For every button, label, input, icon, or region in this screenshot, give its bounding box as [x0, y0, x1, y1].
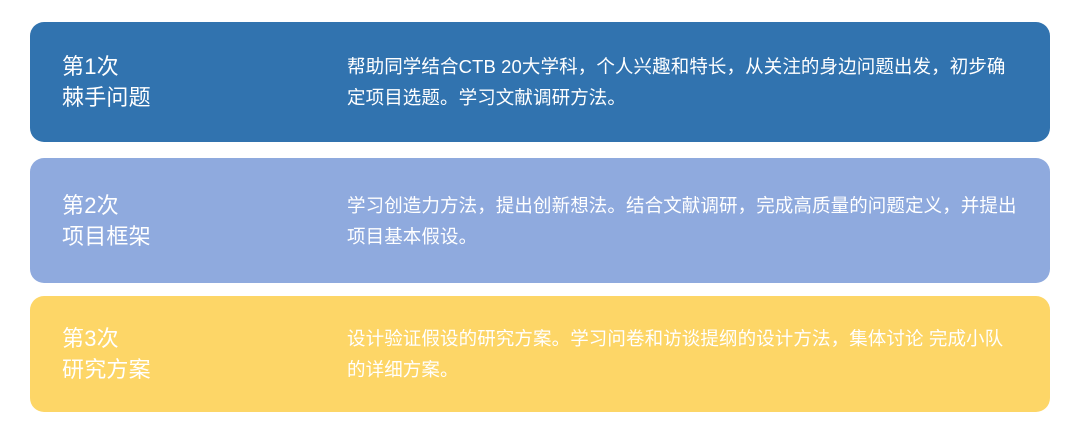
session-schedule-board: 第1次 棘手问题 帮助同学结合CTB 20大学科，个人兴趣和特长，从关注的身边问…: [0, 0, 1080, 427]
session-1-description: 帮助同学结合CTB 20大学科，个人兴趣和特长，从关注的身边问题出发，初步确定项…: [347, 51, 1050, 113]
session-3-title: 第3次 研究方案: [30, 323, 347, 385]
session-card-3: 第3次 研究方案 设计验证假设的研究方案。学习问卷和访谈提纲的设计方法，集体讨论…: [30, 296, 1050, 412]
session-card-2: 第2次 项目框架 学习创造力方法，提出创新想法。结合文献调研，完成高质量的问题定…: [30, 158, 1050, 283]
session-3-description: 设计验证假设的研究方案。学习问卷和访谈提纲的设计方法，集体讨论 完成小队的详细方…: [347, 323, 1050, 385]
session-2-description: 学习创造力方法，提出创新想法。结合文献调研，完成高质量的问题定义，并提出项目基本…: [347, 190, 1050, 252]
session-1-title: 第1次 棘手问题: [30, 51, 347, 113]
session-2-title: 第2次 项目框架: [30, 190, 347, 252]
session-card-1: 第1次 棘手问题 帮助同学结合CTB 20大学科，个人兴趣和特长，从关注的身边问…: [30, 22, 1050, 142]
